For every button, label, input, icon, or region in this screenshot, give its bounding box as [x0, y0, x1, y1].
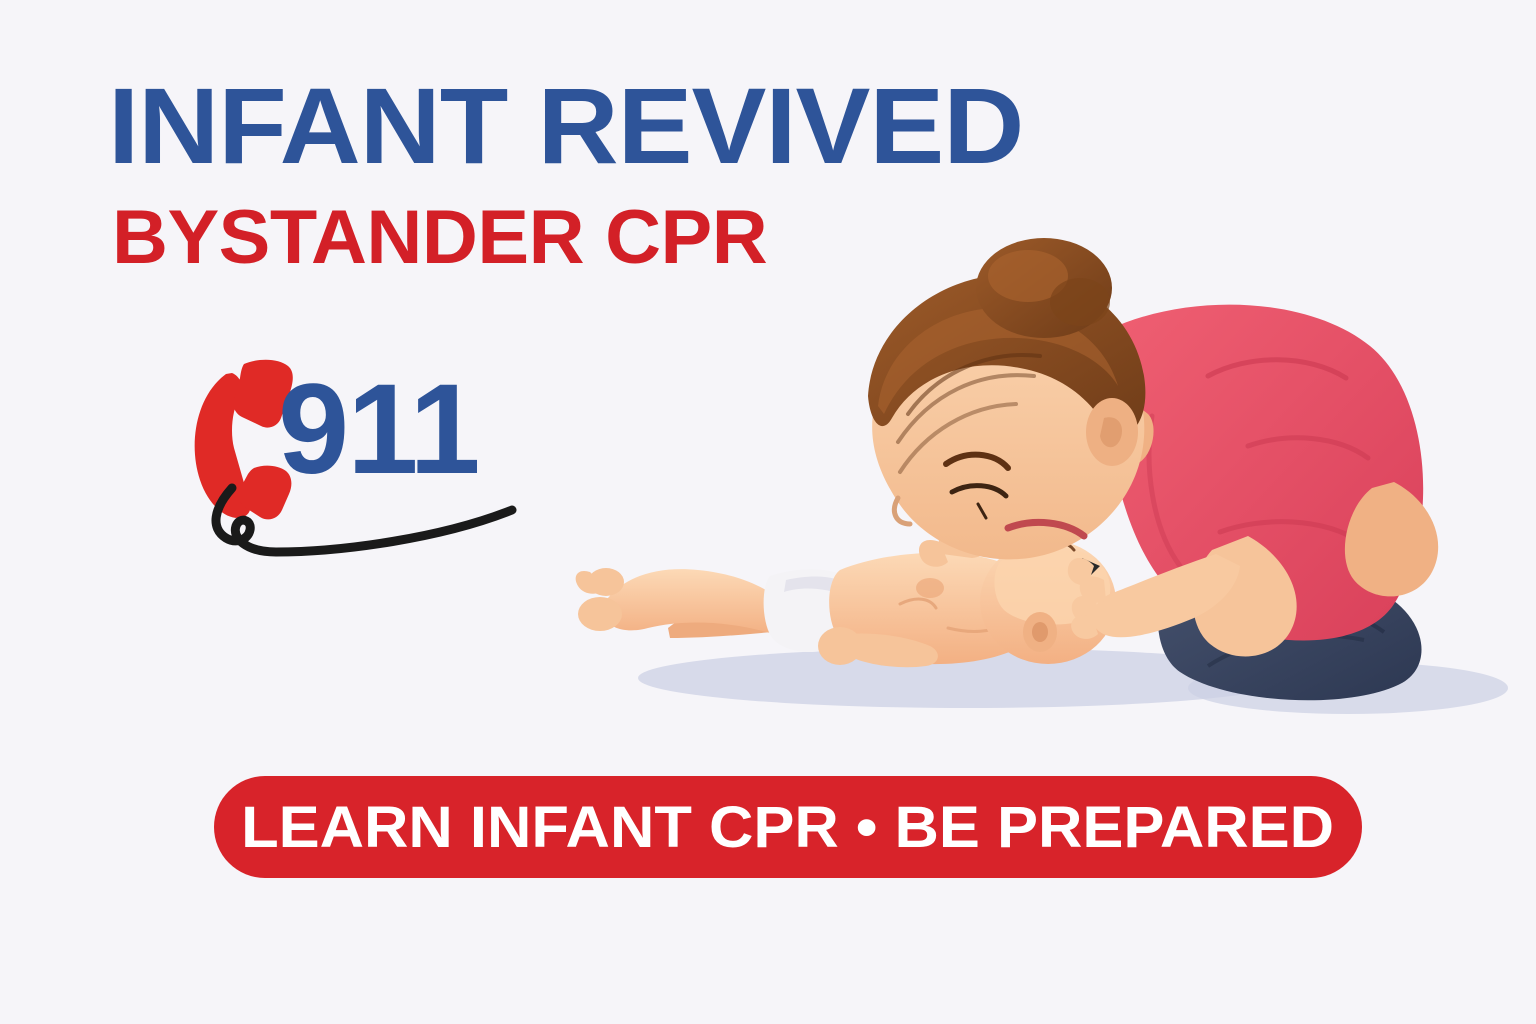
emergency-callout: 911: [182, 352, 602, 582]
phone-cord-icon: [192, 482, 592, 582]
emergency-number: 911: [278, 366, 479, 494]
poster-canvas: INFANT REVIVED BYSTANDER CPR 911: [0, 0, 1536, 1024]
banner-label: LEARN INFANT CPR • BE PREPARED: [242, 794, 1335, 861]
page-title: INFANT REVIVED: [108, 74, 1065, 178]
call-to-action-banner[interactable]: LEARN INFANT CPR • BE PREPARED: [214, 776, 1362, 878]
cpr-illustration: [548, 236, 1508, 736]
